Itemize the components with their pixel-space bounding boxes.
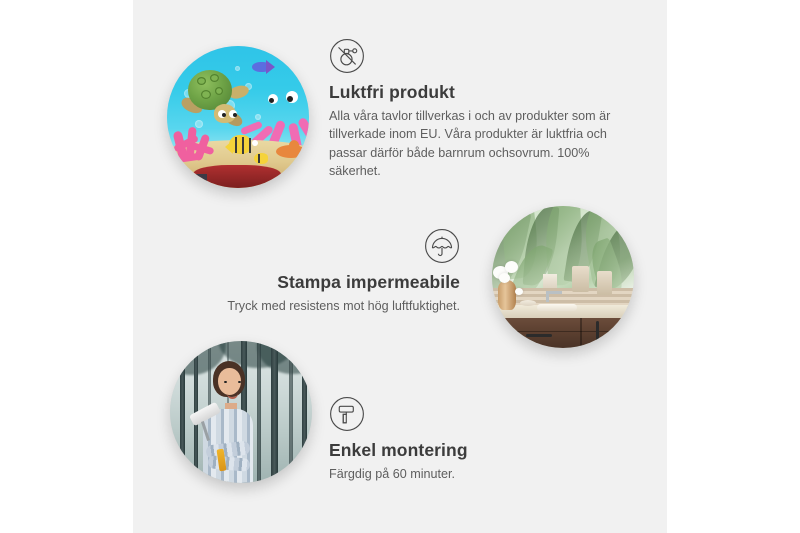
umbrella-icon	[193, 228, 460, 264]
feature-odourless: Luktfri produkt Alla våra tavlor tillver…	[329, 38, 629, 180]
photo-woman-paint-roller	[170, 341, 312, 483]
feature-easy-mounting: Enkel montering Färgdig på 60 minuter.	[329, 396, 619, 483]
bathroom-illustration	[492, 206, 634, 348]
feature-body: Tryck med resistens mot hög luftfuktighe…	[193, 297, 460, 315]
feature-title: Luktfri produkt	[329, 82, 629, 103]
feature-body: Färgdig på 60 minuter.	[329, 465, 619, 483]
paint-roller-icon	[329, 396, 619, 432]
photo-bathroom-vanity	[492, 206, 634, 348]
screenshot-root: Luktfri produkt Alla våra tavlor tillver…	[0, 0, 800, 533]
feature-title: Enkel montering	[329, 440, 619, 461]
feature-title: Stampa impermeabile	[193, 272, 460, 293]
feature-body: Alla våra tavlor tillverkas i och av pro…	[329, 107, 629, 180]
feature-waterproof: Stampa impermeabile Tryck med resistens …	[193, 228, 460, 315]
underwater-illustration	[167, 46, 309, 188]
forest-illustration	[170, 341, 312, 483]
photo-underwater-mural	[167, 46, 309, 188]
no-perfume-icon	[329, 38, 629, 74]
content-panel: Luktfri produkt Alla våra tavlor tillver…	[133, 0, 667, 533]
